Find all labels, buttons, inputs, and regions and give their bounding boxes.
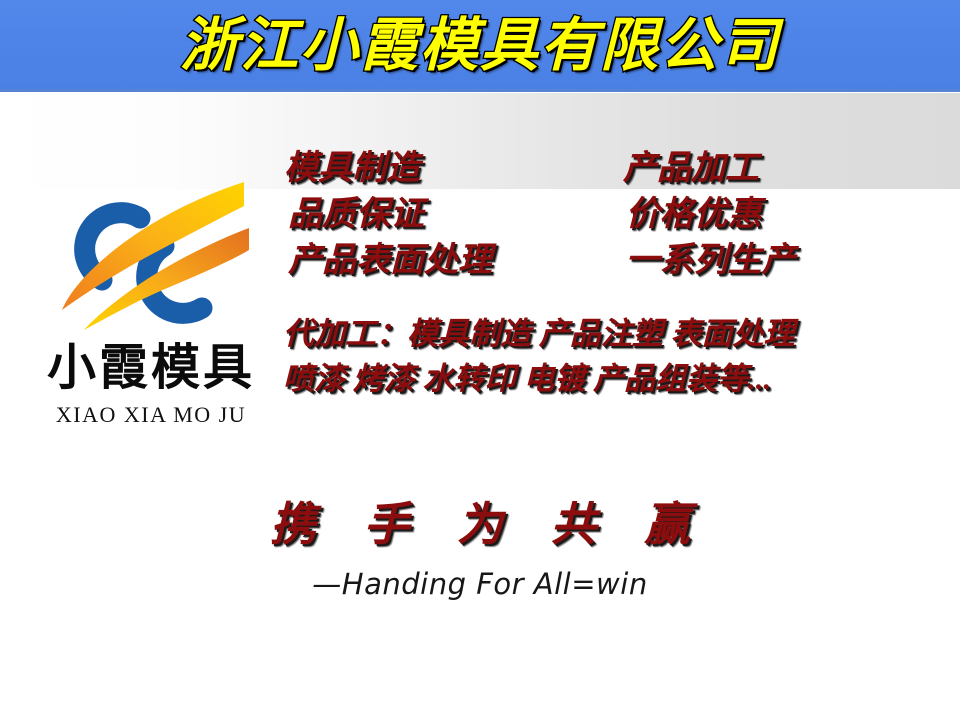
- slogan-block: 携 手 为 共 赢 —Handing For All=win: [0, 494, 960, 602]
- company-title: 浙江小霞模具有限公司: [0, 8, 960, 84]
- logo-name-chinese: 小霞模具: [26, 338, 276, 398]
- service-row: 产品表面处理 一系列生产: [282, 238, 902, 284]
- service-row: 模具制造 产品加工: [282, 146, 902, 192]
- service-item-right: 价格优惠: [624, 193, 902, 237]
- slogan-english: —Handing For All=win: [0, 566, 960, 602]
- service-item-left: 品质保证: [282, 193, 624, 237]
- subcontract-line-1: 代加工：模具制造 产品注塑 表面处理: [283, 311, 883, 356]
- service-item-left: 模具制造: [282, 147, 623, 191]
- slogan-chinese: 携 手 为 共 赢: [0, 494, 960, 556]
- slide-canvas: 浙江小霞模具有限公司: [0, 0, 960, 720]
- service-item-right: 一系列生产: [624, 239, 902, 283]
- logo-mark-icon: [44, 176, 260, 344]
- service-row: 品质保证 价格优惠: [282, 192, 902, 238]
- header-bottom-edge: [0, 89, 960, 92]
- service-item-left: 产品表面处理: [282, 239, 624, 283]
- subcontract-line-2: 喷漆 烤漆 水转印 电镀 产品组装等...: [283, 356, 883, 401]
- company-logo: 小霞模具 XIAO XIA MO JU: [26, 176, 276, 432]
- logo-name-pinyin: XIAO XIA MO JU: [26, 402, 276, 428]
- services-list: 模具制造 产品加工 品质保证 价格优惠 产品表面处理 一系列生产: [282, 146, 902, 284]
- subcontract-paragraph: 代加工：模具制造 产品注塑 表面处理 喷漆 烤漆 水转印 电镀 产品组装等...: [283, 311, 883, 401]
- service-item-right: 产品加工: [623, 147, 902, 191]
